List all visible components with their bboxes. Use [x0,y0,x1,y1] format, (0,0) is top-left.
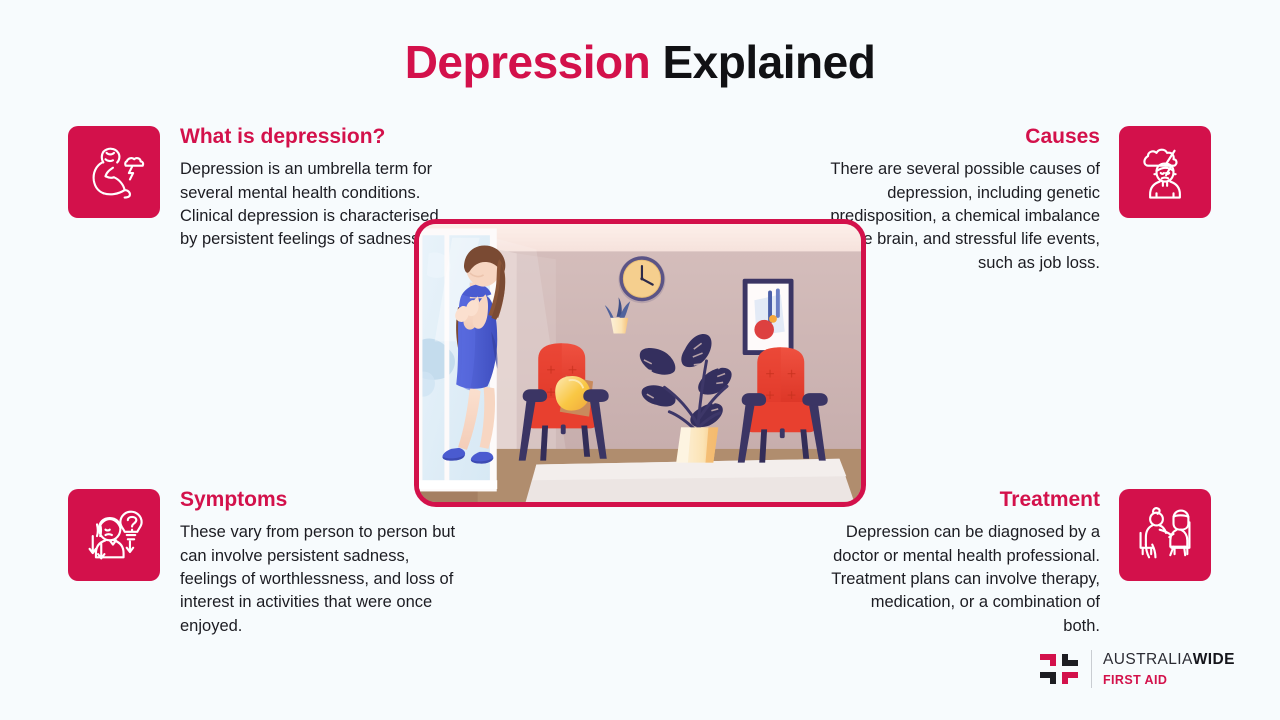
sad-woman-in-waiting-room-illustration [419,224,861,506]
central-illustration [414,219,866,507]
logo-word-australia: AUSTRALIA [1103,651,1193,668]
person-storm-cloud-head-icon [1131,138,1199,206]
icon-tile-causes [1119,126,1211,218]
therapist-patient-icon [1131,501,1199,569]
icon-tile-symptoms [68,489,160,581]
logo-word-wide: WIDE [1193,651,1235,668]
section-heading-treatment: Treatment [830,487,1100,512]
sad-person-storm-cloud-icon [80,138,148,206]
section-heading-what-is-depression: What is depression? [180,124,460,149]
logo-divider [1091,650,1092,688]
section-treatment: Treatment Depression can be diagnosed by… [830,487,1100,638]
section-body-causes: There are several possible causes of dep… [830,158,1100,275]
logo-line-first-aid: FIRST AID [1103,674,1235,687]
infographic-canvas: Depression Explained [0,0,1280,720]
page-title: Depression Explained [0,36,1280,89]
logo-wordmark: AUSTRALIAWIDE FIRST AID [1103,652,1235,686]
icon-tile-treatment [1119,489,1211,581]
section-symptoms: Symptoms These vary from person to perso… [180,487,460,638]
section-body-treatment: Depression can be diagnosed by a doctor … [830,521,1100,638]
australia-wide-first-aid-logo[interactable]: AUSTRALIAWIDE FIRST AID [1038,648,1235,690]
section-causes: Causes There are several possible causes… [830,124,1100,275]
section-body-symptoms: These vary from person to person but can… [180,521,460,638]
page-title-dark: Explained [663,36,876,88]
page-title-accent: Depression [405,36,651,88]
person-down-arrows-question-bulb-icon [80,501,148,569]
logo-cross-mark [1038,648,1080,690]
logo-line-australia-wide: AUSTRALIAWIDE [1103,652,1235,668]
section-heading-causes: Causes [830,124,1100,149]
icon-tile-what-is-depression [68,126,160,218]
first-aid-cross-icon [1038,648,1080,690]
